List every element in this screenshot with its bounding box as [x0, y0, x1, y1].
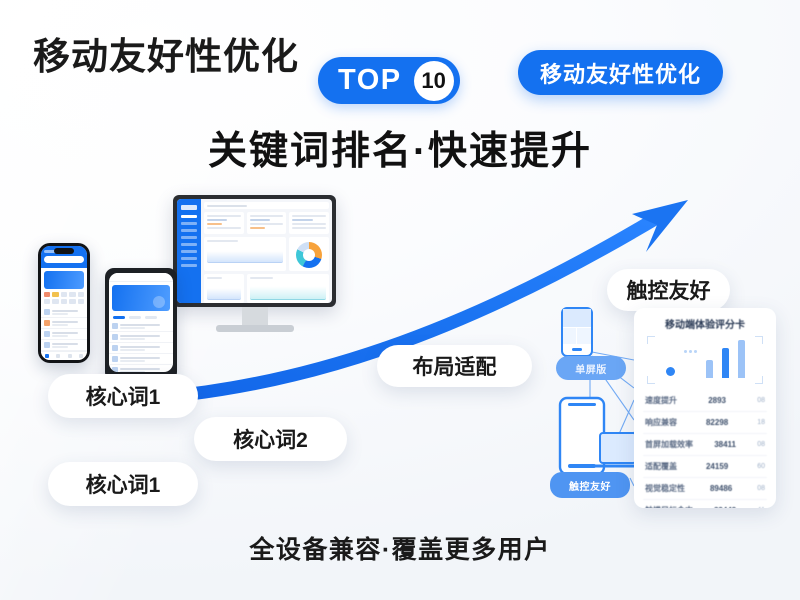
row-value: 24159 — [706, 462, 728, 471]
chart-bar-3 — [738, 340, 745, 378]
top-rank-badge: TOP 10 — [318, 57, 460, 104]
top-badge-word: TOP — [338, 66, 414, 95]
scorecard-row: 首屏加载效率 38411 08 — [643, 434, 767, 456]
row-delta: 08 — [757, 485, 765, 492]
poster-canvas: 移动友好性优化 TOP 10 移动友好性优化 关键词排名·快速提升 — [0, 0, 800, 600]
dashboard-topbar — [204, 202, 329, 209]
page-title: 移动友好性优化 — [33, 26, 299, 80]
row-name: 视觉稳定性 — [645, 483, 685, 494]
phone-mockup — [38, 243, 90, 363]
top-badge-number: 10 — [414, 61, 454, 101]
monitor-neck — [242, 307, 268, 325]
chart-bar-2 — [722, 348, 729, 378]
page-subtitle: 关键词排名·快速提升 — [0, 120, 800, 176]
keyword-pill-3[interactable]: 核心词1 — [48, 462, 198, 506]
phone-screen — [41, 246, 87, 360]
row-delta: 08 — [757, 397, 765, 404]
scorecard-bar-chart — [647, 336, 763, 384]
row-value: 89486 — [710, 484, 732, 493]
dashboard-ui — [177, 199, 332, 303]
keyword-pill-2[interactable]: 核心词2 — [194, 417, 347, 461]
scorecard-row: 触摸目标命中 22449 41 — [643, 500, 767, 508]
keyword-pill-1[interactable]: 核心词1 — [48, 374, 198, 418]
scorecard-row: 视觉稳定性 89486 08 — [643, 478, 767, 500]
scorecard-row: 速度提升 2893 08 — [643, 390, 767, 412]
row-delta: 60 — [757, 463, 765, 470]
tablet-mockup — [105, 268, 177, 381]
row-delta: 41 — [757, 507, 765, 508]
row-value: 2893 — [708, 396, 726, 405]
monitor-screen — [173, 195, 336, 307]
row-name: 适配覆盖 — [645, 461, 677, 472]
dashboard-sidebar — [177, 199, 201, 303]
row-name: 触摸目标命中 — [645, 505, 693, 508]
device-mockups — [25, 195, 335, 390]
phone-tabbar — [41, 351, 87, 360]
scorecard-row: 适配覆盖 24159 60 — [643, 456, 767, 478]
diagram-label-bottom: 触控友好 — [550, 472, 630, 498]
row-value: 38411 — [714, 440, 736, 449]
phone-banner — [44, 271, 84, 289]
device-network-diagram: 单屏版 触控友好 移动端体验评分卡 速度提升 2893 — [530, 300, 780, 515]
chart-bar-1 — [706, 360, 713, 378]
header-tag: 移动友好性优化 — [518, 50, 723, 95]
row-delta: 18 — [757, 419, 765, 426]
layout-adapt-pill[interactable]: 布局适配 — [377, 345, 532, 387]
donut-chart — [289, 237, 329, 271]
experience-scorecard: 移动端体验评分卡 速度提升 2893 08 — [634, 308, 776, 508]
row-name: 响应兼容 — [645, 417, 677, 428]
row-delta: 08 — [757, 441, 765, 448]
row-name: 首屏加载效率 — [645, 439, 693, 450]
monitor-base — [216, 325, 294, 332]
scorecard-title: 移动端体验评分卡 — [643, 316, 767, 331]
row-name: 速度提升 — [645, 395, 677, 406]
phone-notch — [54, 248, 74, 254]
scorecard-row: 响应兼容 82298 18 — [643, 412, 767, 434]
row-value: 22449 — [714, 506, 736, 508]
footer-tagline: 全设备兼容·覆盖更多用户 — [0, 530, 800, 566]
phone-search-bar — [44, 256, 84, 263]
tablet-screen — [109, 273, 173, 372]
chart-pin-marker — [666, 367, 675, 376]
scorecard-rows: 速度提升 2893 08 响应兼容 82298 18 首屏加载效率 38411 … — [643, 390, 767, 508]
desktop-monitor-mockup — [173, 195, 336, 332]
row-value: 82298 — [706, 418, 728, 427]
diagram-label-top: 单屏版 — [556, 356, 626, 380]
chart-dots — [684, 350, 697, 353]
